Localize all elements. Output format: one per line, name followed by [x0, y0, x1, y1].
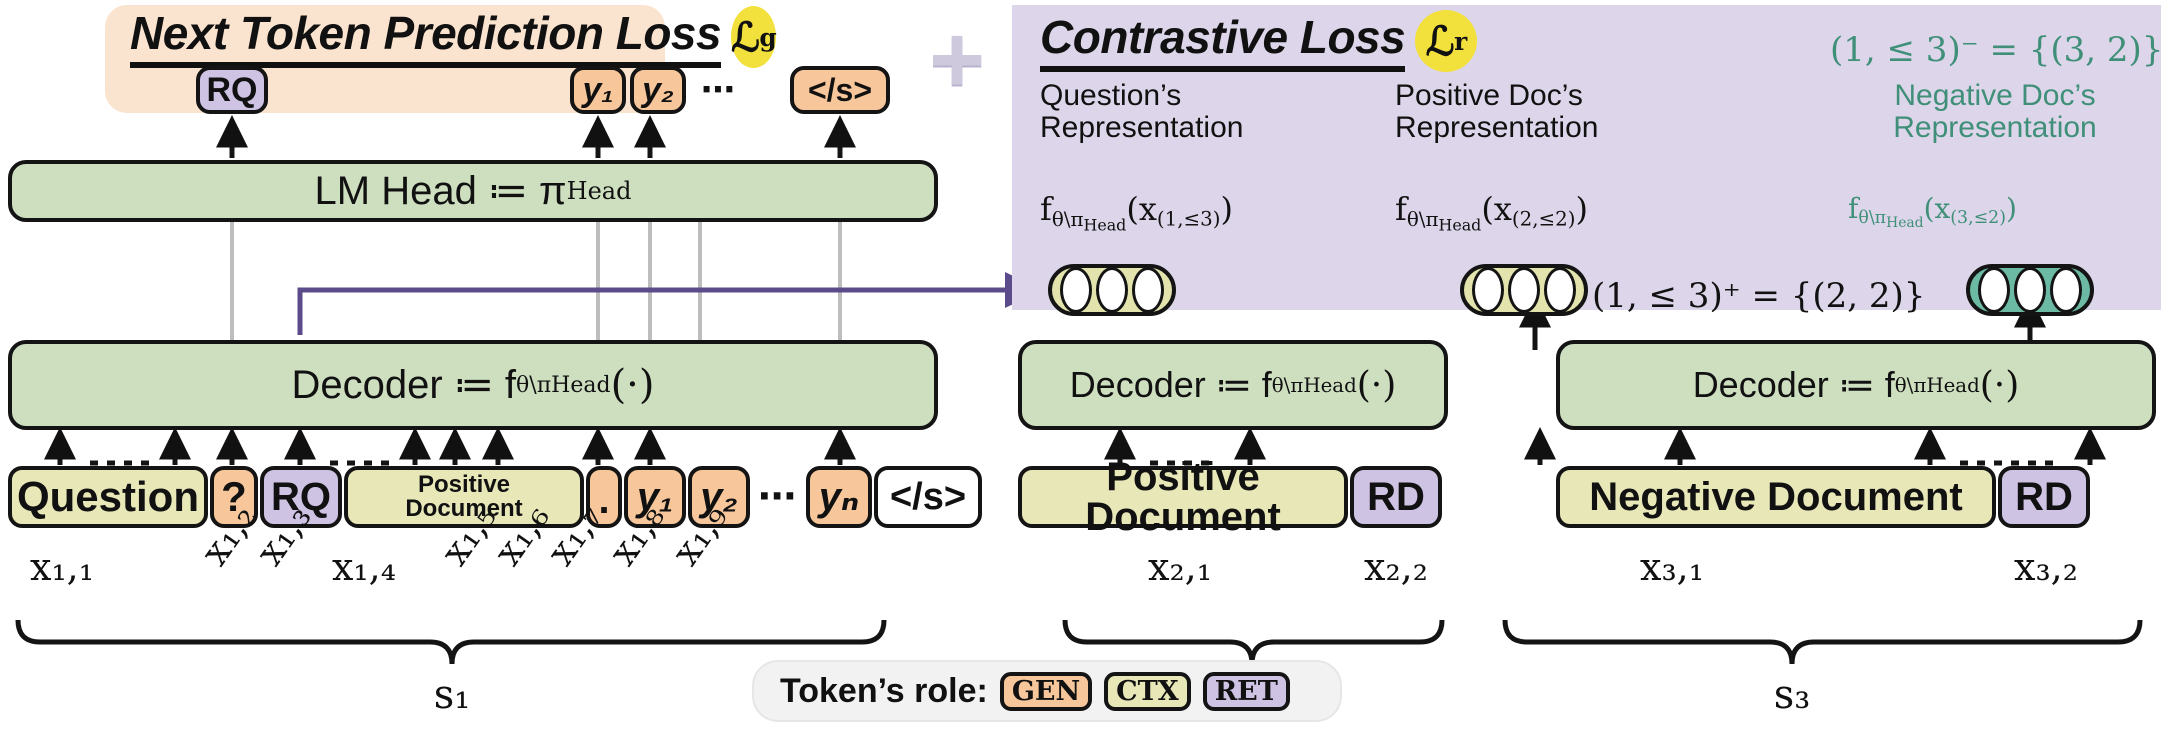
- legend-chip-gen-label: GEN: [1012, 678, 1080, 705]
- index-x-1-4: x₁,₄: [332, 545, 396, 589]
- index-x-1-4-text: x₁,₄: [332, 545, 396, 589]
- question-formula-argsub: (1,≤3): [1157, 208, 1221, 231]
- token-s2-rd-label: RD: [1367, 477, 1425, 517]
- token-s2-positive-document[interactable]: Positive Document: [1018, 466, 1348, 528]
- decoder-s2-label: Decoder ≔ f: [1070, 364, 1272, 406]
- token-s1-ellipsis: ⋯: [752, 474, 802, 524]
- output-token-y1-label: y₁: [583, 73, 614, 107]
- output-token-ellipsis: ⋯: [695, 70, 741, 114]
- lm-head-label: LM Head ≔ π: [315, 168, 567, 214]
- index-x-3-2-text: x₃,₂: [2014, 545, 2078, 589]
- positive-formula-close: ): [1575, 190, 1587, 228]
- legend-chip-ctx-label: CTX: [1116, 678, 1179, 705]
- legend-chip-ctx[interactable]: CTX: [1104, 672, 1191, 711]
- positive-formula-arg: (x: [1481, 190, 1512, 228]
- token-s3-negative-document[interactable]: Negative Document: [1556, 466, 1996, 528]
- question-formula-close: ): [1220, 190, 1232, 228]
- positive-formula-subsub: Head: [1439, 215, 1482, 234]
- loss-g-symbol: ℒ: [731, 14, 759, 61]
- positive-formula-argsub: (2,≤2): [1512, 208, 1576, 231]
- contrastive-panel-title: Contrastive Loss ℒr: [1040, 12, 1660, 70]
- brace-label-s1-text: s₁: [434, 672, 471, 718]
- generation-panel-title: Next Token Prediction Loss ℒg: [130, 8, 650, 66]
- negative-set-label: (1, ≤ 3)⁻ = {(3, 2)}: [1830, 30, 2150, 70]
- token-s2-rd[interactable]: RD: [1350, 466, 1442, 528]
- positive-formula-sub: θ\π: [1407, 208, 1439, 231]
- negative-formula-sub: θ\π: [1858, 208, 1886, 228]
- index-x-3-2: x₃,₂: [2014, 545, 2078, 589]
- loss-g-badge: ℒg: [731, 6, 776, 68]
- repr-unit-icon: [2014, 267, 2046, 313]
- decoder-s3-label: Decoder ≔ f: [1693, 364, 1895, 406]
- token-s1-eos[interactable]: </s>: [874, 466, 982, 528]
- output-token-y1[interactable]: y₁: [570, 66, 626, 114]
- lm-head-module[interactable]: LM Head ≔ πHead: [8, 160, 938, 222]
- repr-unit-icon: [1472, 267, 1504, 313]
- positive-representation-caption: Positive Doc’s Representation: [1395, 80, 1735, 145]
- decoder-module-s1[interactable]: Decoder ≔ fθ\πHead(·): [8, 340, 938, 430]
- negative-representation-caption-line2: Representation: [1830, 112, 2160, 144]
- positive-representation-caption-line2: Representation: [1395, 112, 1735, 144]
- brace-label-s1: s₁: [434, 672, 471, 718]
- index-x-1-1-text: x₁,₁: [30, 545, 94, 589]
- question-representation-pill[interactable]: [1048, 264, 1176, 316]
- decoder-s1-arg: (·): [611, 362, 655, 408]
- legend-chip-gen[interactable]: GEN: [1000, 672, 1092, 711]
- positive-formula-f: f: [1395, 190, 1407, 228]
- loss-r-badge: ℒr: [1415, 10, 1477, 72]
- repr-unit-icon: [1978, 267, 2010, 313]
- contrastive-panel-title-text: Contrastive Loss: [1040, 10, 1405, 72]
- decoder-s3-sub: θ\πHead: [1895, 374, 1980, 397]
- lm-head-sub: Head: [567, 177, 632, 205]
- index-x-1-1: x₁,₁: [30, 545, 94, 589]
- token-s3-negative-document-label: Negative Document: [1589, 477, 1962, 517]
- brace-label-s3: s₃: [1774, 672, 1811, 718]
- plus-glyph: +: [929, 6, 985, 113]
- token-s1-question-label: Question: [17, 476, 199, 518]
- repr-unit-icon: [1544, 267, 1576, 313]
- negative-formula-subsub: Head: [1886, 215, 1923, 231]
- loss-g-subscript: g: [759, 23, 776, 52]
- generation-panel-title-text: Next Token Prediction Loss: [130, 6, 721, 68]
- negative-formula-f: f: [1848, 192, 1858, 225]
- token-role-legend-title: Token’s role:: [780, 672, 988, 711]
- negative-representation-pill[interactable]: [1966, 264, 2094, 316]
- decoder-module-s2[interactable]: Decoder ≔ fθ\πHead(·): [1018, 340, 1448, 430]
- plus-symbol: +: [912, 22, 1002, 122]
- output-token-rq-label: RQ: [207, 73, 258, 107]
- question-representation-caption: Question’s Representation: [1040, 80, 1370, 145]
- decoder-s3-arg: (·): [1980, 365, 2020, 406]
- token-s3-rd[interactable]: RD: [1998, 466, 2090, 528]
- repr-unit-icon: [1060, 267, 1092, 313]
- question-formula-f: f: [1040, 190, 1052, 228]
- repr-unit-icon: [2050, 267, 2082, 313]
- negative-representation-caption-line1: Negative Doc’s: [1830, 80, 2160, 112]
- positive-set-label: (1, ≤ 3)⁺ = {(2, 2)}: [1592, 276, 1925, 316]
- token-role-legend: Token’s role: GEN CTX RET: [752, 660, 1342, 722]
- loss-r-subscript: r: [1454, 27, 1467, 56]
- positive-representation-formula: fθ\πHead(x(2,≤2)): [1395, 190, 1588, 234]
- output-token-eos-label: </s>: [808, 74, 872, 106]
- index-x-2-2: x₂,₂: [1364, 545, 1428, 589]
- legend-chip-ret-label: RET: [1215, 678, 1278, 705]
- loss-r-symbol: ℒ: [1426, 18, 1454, 65]
- question-formula-sub: θ\π: [1052, 208, 1084, 231]
- decoder-s2-sub: θ\πHead: [1272, 374, 1357, 397]
- negative-representation-caption: Negative Doc’s Representation: [1830, 80, 2160, 145]
- token-s3-rd-label: RD: [2015, 477, 2073, 517]
- negative-set-label-text: (1, ≤ 3)⁻ = {(3, 2)}: [1830, 30, 2161, 70]
- decoder-s2-arg: (·): [1357, 365, 1397, 406]
- positive-set-label-text: (1, ≤ 3)⁺ = {(2, 2)}: [1592, 276, 1925, 316]
- output-token-ellipsis-label: ⋯: [701, 71, 735, 109]
- legend-chip-ret[interactable]: RET: [1203, 672, 1290, 711]
- question-representation-formula: fθ\πHead(x(1,≤3)): [1040, 190, 1233, 234]
- question-formula-arg: (x: [1126, 190, 1157, 228]
- token-s1-question[interactable]: Question: [8, 466, 208, 528]
- index-x-3-1-text: x₃,₁: [1640, 545, 1704, 589]
- negative-formula-close: ): [2006, 192, 2017, 225]
- negative-formula-argsub: (3,≤2): [1950, 208, 2006, 228]
- negative-formula-arg: (x: [1924, 192, 1951, 225]
- repr-unit-icon: [1508, 267, 1540, 313]
- positive-representation-pill[interactable]: [1460, 264, 1588, 316]
- token-s1-ellipsis-label: ⋯: [758, 476, 796, 518]
- output-token-eos[interactable]: </s>: [790, 66, 890, 114]
- output-token-y2[interactable]: y₂: [630, 66, 686, 114]
- brace-label-s3-text: s₃: [1774, 672, 1811, 718]
- negative-representation-formula: fθ\πHead(x(3,≤2)): [1848, 192, 2017, 231]
- index-x-2-1: x₂,₁: [1148, 545, 1212, 589]
- token-s1-eos-label: </s>: [890, 478, 966, 516]
- index-x-3-1: x₃,₁: [1640, 545, 1704, 589]
- repr-unit-icon: [1096, 267, 1128, 313]
- index-x-2-1-text: x₂,₁: [1148, 545, 1212, 589]
- question-representation-caption-line2: Representation: [1040, 112, 1370, 144]
- decoder-s1-sub: θ\πHead: [516, 373, 611, 398]
- token-s1-yn-label: yₙ: [819, 477, 859, 517]
- decoder-s1-label: Decoder ≔ f: [292, 362, 517, 408]
- output-token-y2-label: y₂: [642, 73, 674, 107]
- decoder-module-s3[interactable]: Decoder ≔ fθ\πHead(·): [1556, 340, 2156, 430]
- repr-unit-icon: [1132, 267, 1164, 313]
- question-formula-subsub: Head: [1084, 215, 1127, 234]
- token-s2-positive-document-label: Positive Document: [1022, 457, 1344, 537]
- positive-representation-caption-line1: Positive Doc’s: [1395, 80, 1735, 112]
- output-token-rq[interactable]: RQ: [196, 66, 268, 114]
- index-x-2-2-text: x₂,₂: [1364, 545, 1428, 589]
- question-representation-caption-line1: Question’s: [1040, 80, 1370, 112]
- token-s1-yn[interactable]: yₙ: [806, 466, 872, 528]
